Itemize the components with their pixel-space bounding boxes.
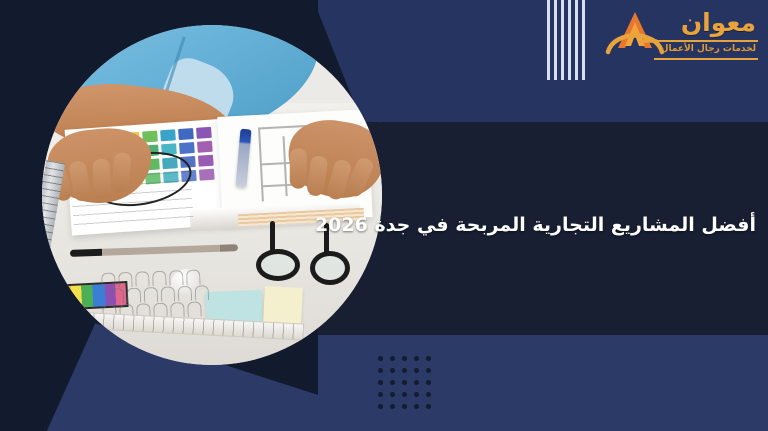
grid-dot — [390, 380, 395, 385]
logo-brand-name: معوان — [681, 10, 756, 35]
grid-dot — [402, 356, 407, 361]
grid-dot — [390, 356, 395, 361]
grid-dot — [390, 368, 395, 373]
grid-dot — [378, 404, 383, 409]
grid-dot — [426, 380, 431, 385]
grid-dot — [378, 368, 383, 373]
grid-dot — [414, 380, 419, 385]
vertical-bars-decoration — [547, 0, 587, 80]
sketch-shape — [110, 288, 125, 303]
color-swatch — [196, 127, 212, 139]
bar-6 — [582, 0, 585, 80]
sketch-shape — [161, 286, 176, 301]
hero-photo — [42, 25, 382, 365]
color-swatch — [160, 129, 176, 141]
grid-dot — [426, 392, 431, 397]
grid-dot — [414, 368, 419, 373]
sketch-shape — [170, 302, 185, 317]
sketch-shape — [101, 272, 116, 287]
grid-dot — [378, 392, 383, 397]
magnifier-large-handle — [270, 221, 275, 253]
logo-divider-bottom — [654, 58, 758, 60]
sketch-shape — [144, 287, 159, 302]
grid-dot — [378, 380, 383, 385]
grid-dot — [402, 404, 407, 409]
sketch-shape — [152, 271, 167, 286]
color-swatch — [198, 155, 214, 167]
color-swatch — [178, 128, 194, 140]
grid-dot — [414, 356, 419, 361]
bar-5 — [575, 0, 578, 80]
logo-tagline: لخدمات رجال الأعمال — [661, 44, 756, 54]
color-swatch — [199, 169, 215, 181]
sketch-shape — [195, 285, 210, 300]
bar-1 — [547, 0, 550, 80]
bar-3 — [561, 0, 564, 80]
grid-dot — [426, 404, 431, 409]
magnifier-small — [310, 251, 350, 285]
banner-headline: أفضل المشاريع التجارية المربحة في جدة 20… — [404, 214, 756, 238]
sketch-shape — [118, 272, 133, 287]
sketch-shape — [178, 286, 193, 301]
sketch-shape — [127, 288, 142, 303]
bar-4 — [568, 0, 571, 80]
grid-dot — [426, 356, 431, 361]
sketch-shape — [187, 301, 202, 316]
bar-2 — [554, 0, 557, 80]
grid-dot — [414, 404, 419, 409]
sticky-note-yellow — [263, 286, 303, 326]
sketch-shape — [186, 269, 201, 284]
grid-dot — [414, 392, 419, 397]
photo-scene — [42, 25, 382, 365]
grid-dot — [402, 368, 407, 373]
color-swatch — [197, 141, 213, 153]
sketch-shape — [135, 271, 150, 286]
grid-dot — [402, 392, 407, 397]
company-logo[interactable]: معوان لخدمات رجال الأعمال — [604, 6, 760, 72]
grid-dot — [402, 380, 407, 385]
promo-banner: معوان لخدمات رجال الأعمال أفضل المشاريع … — [0, 0, 768, 431]
grid-dot — [390, 404, 395, 409]
color-swatch — [179, 142, 195, 154]
grid-dot — [426, 368, 431, 373]
logo-divider-top — [654, 40, 758, 42]
dot-grid-decoration — [378, 356, 438, 416]
magnifier-large — [256, 249, 300, 281]
sketch-shape — [169, 270, 184, 285]
grid-dot — [390, 392, 395, 397]
